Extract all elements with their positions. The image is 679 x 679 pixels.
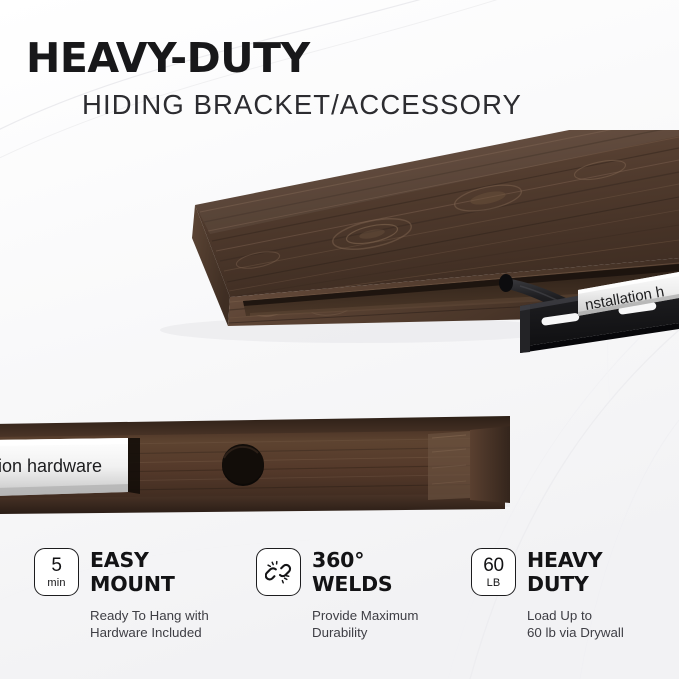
feature-title: 360° WELDS (312, 548, 392, 597)
page-title: HEAVY-DUTY (26, 38, 679, 80)
weight-capacity-badge-icon: 60 LB (471, 548, 516, 596)
badge-number: 5 (51, 556, 61, 575)
feature-description: Provide Maximum Durability (312, 607, 440, 642)
header: HEAVY-DUTY HIDING BRACKET/ACCESSORY (0, 0, 679, 120)
product-photo-main: nstallation h (0, 130, 679, 380)
product-photo-detail: ion hardware (0, 408, 679, 533)
page-subtitle: HIDING BRACKET/ACCESSORY (82, 91, 679, 120)
badge-unit: LB (487, 578, 501, 589)
feature-description: Ready To Hang with Hardware Included (90, 607, 222, 642)
feature-easy-mount: 5 min EASY MOUNT Ready To Hang with Hard… (0, 548, 222, 668)
feature-description: Load Up to 60 lb via Drywall (527, 607, 679, 642)
feature-heavy-duty: 60 LB HEAVY DUTY Load Up to 60 lb via Dr… (440, 548, 679, 668)
time-badge-icon: 5 min (34, 548, 79, 596)
product-infographic: HEAVY-DUTY HIDING BRACKET/ACCESSORY (0, 0, 679, 679)
badge-number: 60 (483, 556, 504, 575)
feature-head: 360° WELDS (256, 548, 440, 597)
shelf-right-end (428, 426, 510, 503)
rod-bore-hole (222, 444, 264, 486)
installation-hardware-sticker-detail: ion hardware (0, 438, 128, 496)
chain-link-weld-glyph (265, 559, 292, 586)
feature-360-welds: 360° WELDS Provide Maximum Durability (222, 548, 440, 668)
chain-link-weld-icon (256, 548, 301, 596)
sticker-label-detail-text: ion hardware (0, 456, 102, 476)
feature-title: EASY MOUNT (90, 548, 175, 597)
feature-head: 5 min EASY MOUNT (34, 548, 222, 597)
badge-unit: min (47, 578, 65, 589)
feature-title: HEAVY DUTY (527, 548, 602, 597)
feature-head: 60 LB HEAVY DUTY (471, 548, 679, 597)
feature-list: 5 min EASY MOUNT Ready To Hang with Hard… (0, 548, 679, 668)
